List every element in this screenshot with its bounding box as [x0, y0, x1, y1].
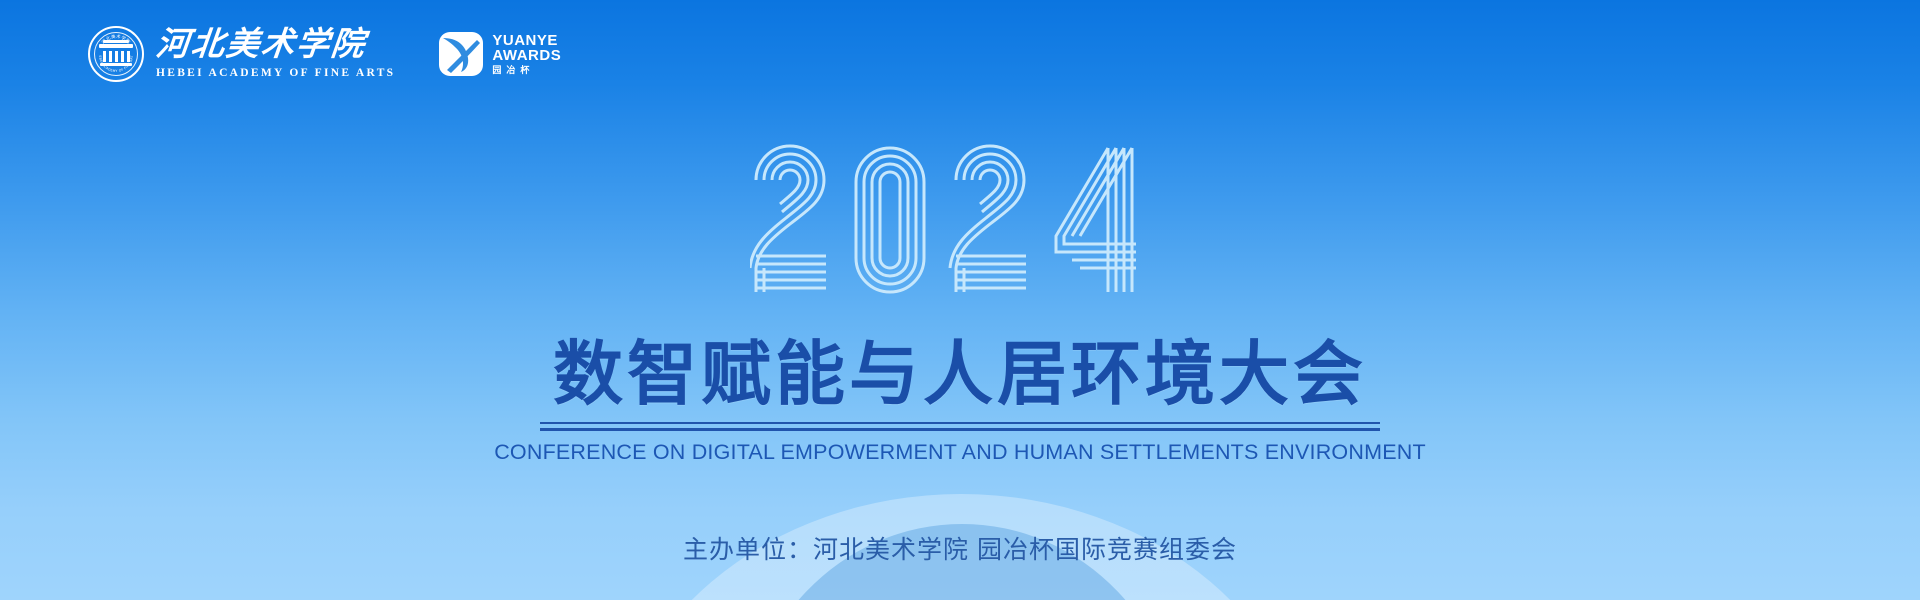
svg-text:河北美术学院: 河北美术学院	[100, 33, 132, 46]
hebei-chinese-name: 河北美术学院	[154, 29, 397, 62]
page-title-english: CONFERENCE ON DIGITAL EMPOWERMENT AND HU…	[494, 440, 1426, 465]
year-graphic	[0, 140, 1920, 300]
headline-block: 数智赋能与人居环境大会 CONFERENCE ON DIGITAL EMPOWE…	[0, 338, 1920, 465]
conference-banner: 河北美术学院 HEBEI ACADEMY OF FINE ARTS 河北美术学院…	[0, 0, 1920, 600]
svg-text:HEBEI ACADEMY OF FINE ARTS: HEBEI ACADEMY OF FINE ARTS	[90, 28, 134, 73]
yuanye-line2: AWARDS	[492, 48, 561, 63]
yuanye-leaf-mark-icon	[439, 32, 483, 76]
yuanye-chinese-name: 园冶杯	[492, 66, 561, 75]
logo-row: 河北美术学院 HEBEI ACADEMY OF FINE ARTS 河北美术学院…	[88, 26, 561, 82]
academy-gate-emblem-icon: 河北美术学院 HEBEI ACADEMY OF FINE ARTS	[88, 26, 144, 82]
logo-yuanye-awards: YUANYE AWARDS 园冶杯	[439, 32, 561, 76]
logo-hebei-academy: 河北美术学院 HEBEI ACADEMY OF FINE ARTS 河北美术学院…	[88, 26, 395, 82]
organizer-line: 主办单位：河北美术学院 园冶杯国际竞赛组委会	[0, 530, 1920, 566]
page-title-chinese: 数智赋能与人居环境大会	[553, 338, 1367, 411]
yuanye-line1: YUANYE	[492, 33, 561, 48]
title-divider	[540, 422, 1380, 431]
hebei-english-name: HEBEI ACADEMY OF FINE ARTS	[156, 68, 395, 80]
